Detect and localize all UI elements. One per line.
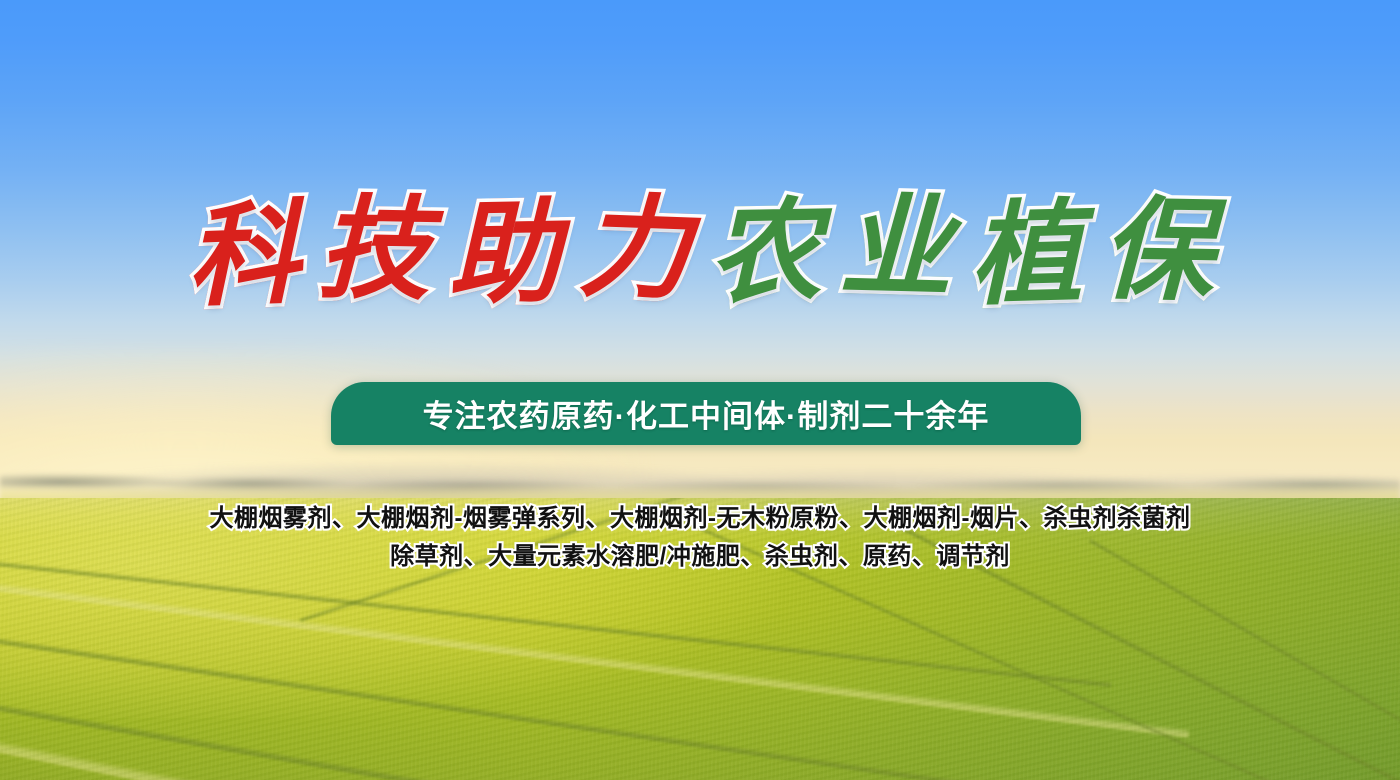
product-line: 除草剂、大量元素水溶肥/冲施肥、杀虫剂、原药、调节剂 bbox=[0, 538, 1400, 576]
subtitle-banner: 专注农药原药·化工中间体·制剂二十余年 bbox=[331, 382, 1081, 445]
product-list: 大棚烟雾剂、大棚烟剂-烟雾弹系列、大棚烟剂-无木粉原粉、大棚烟剂-烟片、杀虫剂杀… bbox=[0, 500, 1400, 576]
subtitle-text: 专注农药原药·化工中间体·制剂二十余年 bbox=[423, 391, 990, 436]
promotional-banner: 科 技 助 力 农 业 植 保 专注农药原药·化工中间体·制剂二十余年 大棚烟雾… bbox=[0, 0, 1400, 780]
product-line: 大棚烟雾剂、大棚烟剂-烟雾弹系列、大棚烟剂-无木粉原粉、大棚烟剂-烟片、杀虫剂杀… bbox=[0, 500, 1400, 538]
